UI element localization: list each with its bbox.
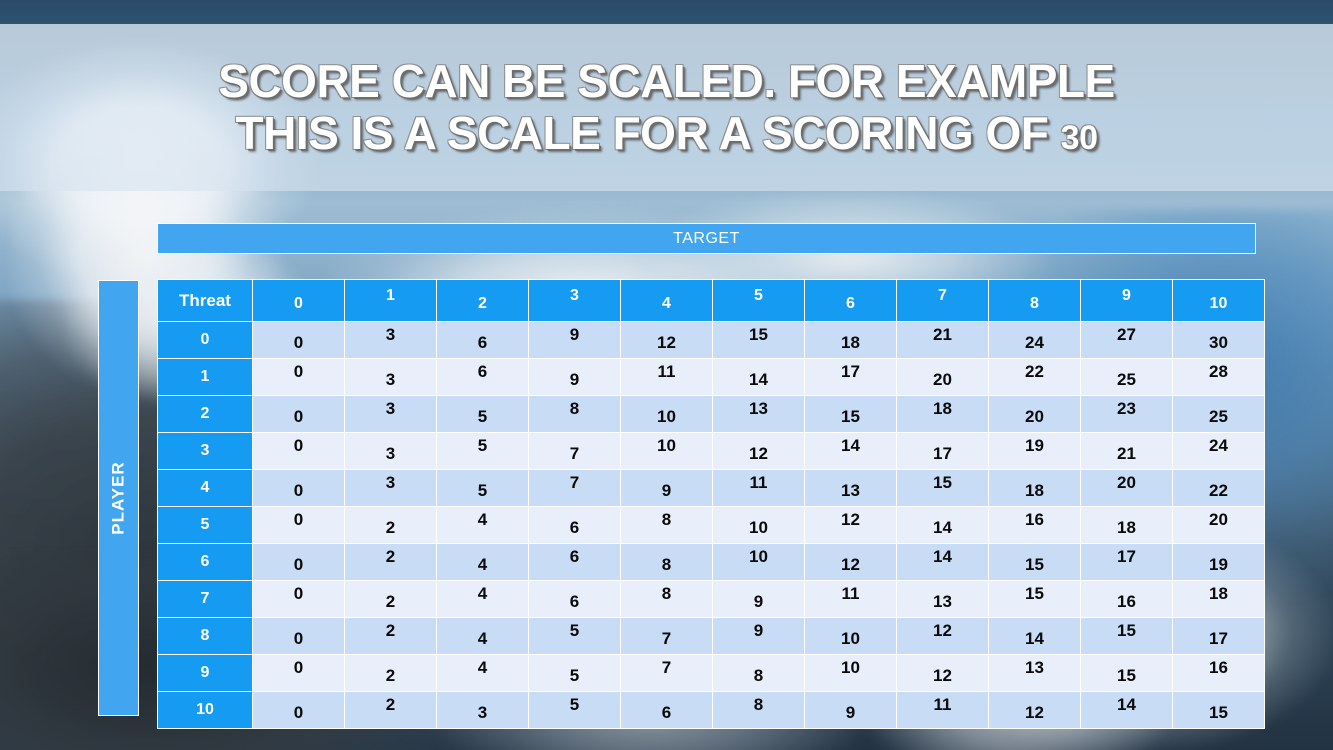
matrix-cell-value: 8 bbox=[662, 510, 671, 530]
matrix-cell: 13 bbox=[805, 470, 896, 506]
matrix-cell: 12 bbox=[897, 655, 988, 691]
matrix-cell-value: 6 bbox=[570, 518, 579, 538]
matrix-cell-value: 6 bbox=[570, 592, 579, 612]
matrix-cell: 2 bbox=[345, 581, 436, 617]
matrix-cell-value: 14 bbox=[933, 518, 952, 538]
matrix-row: 80245791012141517 bbox=[158, 618, 1264, 654]
matrix-cell: 4 bbox=[437, 544, 528, 580]
score-scale-matrix: Threat012345678910 003691215182124273010… bbox=[157, 279, 1265, 729]
matrix-cell: 4 bbox=[437, 581, 528, 617]
matrix-cell: 23 bbox=[1081, 396, 1172, 432]
matrix-cell-value: 4 bbox=[478, 510, 487, 530]
matrix-cell-value: 16 bbox=[1117, 592, 1136, 612]
matrix-cell-value: 3 bbox=[386, 473, 395, 493]
matrix-row: 70246891113151618 bbox=[158, 581, 1264, 617]
matrix-cell-value: 12 bbox=[841, 510, 860, 530]
matrix-cell-value: 10 bbox=[657, 436, 676, 456]
matrix-cell-value: 11 bbox=[934, 695, 952, 715]
matrix-cell: 8 bbox=[621, 507, 712, 543]
matrix-cell-value: 4 bbox=[478, 555, 487, 575]
matrix-cell: 25 bbox=[1081, 359, 1172, 395]
matrix-cell-value: 2 bbox=[386, 547, 395, 567]
matrix-cell: 12 bbox=[805, 544, 896, 580]
matrix-row: 0036912151821242730 bbox=[158, 322, 1264, 358]
matrix-cell-value: 15 bbox=[841, 407, 860, 427]
matrix-cell: 6 bbox=[529, 544, 620, 580]
matrix-cell-value: 7 bbox=[662, 658, 671, 678]
matrix-cell-value: 0 bbox=[294, 436, 303, 456]
matrix-cell-value: 8 bbox=[754, 666, 763, 686]
matrix-cell: 15 bbox=[805, 396, 896, 432]
matrix-cell-value: 15 bbox=[1117, 666, 1136, 686]
matrix-cell-value: 2 bbox=[386, 695, 395, 715]
matrix-corner-header: Threat bbox=[158, 280, 252, 321]
matrix-cell: 13 bbox=[713, 396, 804, 432]
matrix-cell-value: 10 bbox=[749, 518, 768, 538]
matrix-cell-value: 2 bbox=[386, 592, 395, 612]
matrix-row-header-6: 6 bbox=[158, 544, 252, 580]
matrix-cell-value: 17 bbox=[933, 444, 952, 464]
matrix-cell: 18 bbox=[1173, 581, 1264, 617]
matrix-cell: 17 bbox=[1173, 618, 1264, 654]
matrix-cell: 25 bbox=[1173, 396, 1264, 432]
matrix-cell: 5 bbox=[437, 470, 528, 506]
matrix-cell: 14 bbox=[989, 618, 1080, 654]
matrix-cell-value: 25 bbox=[1209, 407, 1228, 427]
matrix-cell: 15 bbox=[989, 544, 1080, 580]
matrix-cell-value: 18 bbox=[933, 399, 952, 419]
matrix-cell: 6 bbox=[437, 359, 528, 395]
matrix-cell: 3 bbox=[345, 396, 436, 432]
matrix-cell: 3 bbox=[345, 359, 436, 395]
matrix-cell-value: 0 bbox=[294, 510, 303, 530]
matrix-row: 403579111315182022 bbox=[158, 470, 1264, 506]
matrix-cell-value: 2 bbox=[386, 666, 395, 686]
matrix-cell-value: 19 bbox=[1209, 555, 1228, 575]
matrix-cell: 14 bbox=[713, 359, 804, 395]
matrix-cell: 4 bbox=[437, 507, 528, 543]
matrix-cell: 11 bbox=[713, 470, 804, 506]
matrix-cell-value: 3 bbox=[478, 703, 487, 723]
matrix-cell-value: 13 bbox=[933, 592, 952, 612]
matrix-cell-value: 10 bbox=[841, 658, 860, 678]
matrix-cell: 10 bbox=[805, 655, 896, 691]
matrix-cell-value: 15 bbox=[749, 325, 768, 345]
matrix-cell-value: 27 bbox=[1117, 325, 1136, 345]
matrix-cell-value: 14 bbox=[841, 436, 860, 456]
matrix-cell-value: 0 bbox=[294, 658, 303, 678]
matrix-cell: 3 bbox=[345, 433, 436, 469]
matrix-cell: 0 bbox=[253, 544, 344, 580]
matrix-cell-value: 12 bbox=[657, 333, 676, 353]
matrix-cell: 18 bbox=[897, 396, 988, 432]
matrix-column-header-0: 0 bbox=[253, 280, 344, 321]
matrix-column-header-5: 5 bbox=[713, 280, 804, 321]
matrix-cell: 2 bbox=[345, 692, 436, 728]
matrix-cell: 9 bbox=[805, 692, 896, 728]
matrix-cell: 18 bbox=[1081, 507, 1172, 543]
matrix-cell: 13 bbox=[897, 581, 988, 617]
matrix-cell-value: 21 bbox=[933, 325, 952, 345]
matrix-cell: 7 bbox=[529, 433, 620, 469]
matrix-cell-value: 7 bbox=[662, 629, 671, 649]
matrix-cell-value: 8 bbox=[662, 555, 671, 575]
matrix-cell: 6 bbox=[621, 692, 712, 728]
matrix-cell-value: 0 bbox=[294, 362, 303, 382]
matrix-cell-value: 0 bbox=[294, 333, 303, 353]
matrix-cell-value: 5 bbox=[570, 695, 579, 715]
matrix-cell: 3 bbox=[345, 322, 436, 358]
matrix-cell: 14 bbox=[897, 544, 988, 580]
matrix-cell-value: 11 bbox=[658, 362, 676, 382]
matrix-cell-value: 16 bbox=[1209, 658, 1228, 678]
matrix-column-header-6: 6 bbox=[805, 280, 896, 321]
title-line-2: THIS IS A SCALE FOR A SCORING OF bbox=[236, 107, 1061, 159]
matrix-cell: 0 bbox=[253, 322, 344, 358]
matrix-cell: 7 bbox=[529, 470, 620, 506]
top-border-strip bbox=[0, 0, 1333, 24]
matrix-cell: 15 bbox=[1173, 692, 1264, 728]
matrix-row: 2035810131518202325 bbox=[158, 396, 1264, 432]
matrix-cell: 12 bbox=[989, 692, 1080, 728]
matrix-cell: 16 bbox=[1173, 655, 1264, 691]
matrix-cell-value: 8 bbox=[754, 695, 763, 715]
matrix-cell-value: 14 bbox=[1117, 695, 1136, 715]
player-axis-label: PLAYER bbox=[109, 461, 129, 534]
matrix-cell: 0 bbox=[253, 470, 344, 506]
matrix-cell-value: 21 bbox=[1117, 444, 1136, 464]
matrix-column-header-2: 2 bbox=[437, 280, 528, 321]
matrix-cell: 24 bbox=[989, 322, 1080, 358]
matrix-cell-value: 7 bbox=[570, 444, 579, 464]
matrix-cell: 3 bbox=[437, 692, 528, 728]
matrix-cell: 0 bbox=[253, 396, 344, 432]
matrix-cell: 5 bbox=[437, 433, 528, 469]
matrix-row: 1036911141720222528 bbox=[158, 359, 1264, 395]
matrix-cell: 8 bbox=[713, 692, 804, 728]
matrix-cell: 5 bbox=[529, 618, 620, 654]
matrix-cell-value: 20 bbox=[1209, 510, 1228, 530]
matrix-cell: 9 bbox=[529, 322, 620, 358]
matrix-column-header-7: 7 bbox=[897, 280, 988, 321]
matrix-cell: 5 bbox=[529, 692, 620, 728]
matrix-cell: 16 bbox=[989, 507, 1080, 543]
matrix-cell-value: 5 bbox=[570, 621, 579, 641]
matrix-body: 0036912151821242730103691114172022252820… bbox=[158, 322, 1264, 728]
matrix-cell: 19 bbox=[989, 433, 1080, 469]
matrix-cell: 21 bbox=[1081, 433, 1172, 469]
matrix-column-header-1: 1 bbox=[345, 280, 436, 321]
matrix-cell: 10 bbox=[621, 396, 712, 432]
matrix-cell: 18 bbox=[989, 470, 1080, 506]
matrix-cell-value: 9 bbox=[754, 592, 763, 612]
matrix-cell: 4 bbox=[437, 655, 528, 691]
matrix-row-header-7: 7 bbox=[158, 581, 252, 617]
matrix-cell-value: 18 bbox=[1117, 518, 1136, 538]
matrix-cell: 4 bbox=[437, 618, 528, 654]
matrix-cell-value: 13 bbox=[841, 481, 860, 501]
matrix-cell-value: 20 bbox=[1117, 473, 1136, 493]
matrix-cell-value: 5 bbox=[478, 436, 487, 456]
matrix-cell-value: 18 bbox=[841, 333, 860, 353]
matrix-cell-value: 15 bbox=[933, 473, 952, 493]
matrix-cell-value: 6 bbox=[478, 333, 487, 353]
matrix-row-header-3: 3 bbox=[158, 433, 252, 469]
matrix-cell: 3 bbox=[345, 470, 436, 506]
matrix-cell-value: 14 bbox=[1025, 629, 1044, 649]
matrix-cell-value: 11 bbox=[842, 584, 860, 604]
matrix-column-header-8: 8 bbox=[989, 280, 1080, 321]
matrix-cell: 10 bbox=[713, 544, 804, 580]
matrix-cell-value: 3 bbox=[386, 370, 395, 390]
matrix-cell: 2 bbox=[345, 544, 436, 580]
matrix-cell-value: 9 bbox=[846, 703, 855, 723]
matrix-cell-value: 12 bbox=[841, 555, 860, 575]
matrix-cell-value: 6 bbox=[478, 362, 487, 382]
matrix-cell: 8 bbox=[621, 544, 712, 580]
matrix-row-header-8: 8 bbox=[158, 618, 252, 654]
matrix-cell-value: 4 bbox=[478, 658, 487, 678]
matrix-cell-value: 22 bbox=[1209, 481, 1228, 501]
matrix-cell: 5 bbox=[529, 655, 620, 691]
matrix-cell-value: 10 bbox=[841, 629, 860, 649]
title-scale-number: 30 bbox=[1061, 119, 1098, 157]
matrix-cell: 7 bbox=[621, 655, 712, 691]
title-band: SCORE CAN BE SCALED. FOR EXAMPLE THIS IS… bbox=[0, 24, 1333, 191]
matrix-cell: 0 bbox=[253, 433, 344, 469]
matrix-cell-value: 24 bbox=[1025, 333, 1044, 353]
matrix-cell-value: 30 bbox=[1209, 333, 1228, 353]
matrix-cell: 11 bbox=[897, 692, 988, 728]
matrix-cell: 7 bbox=[621, 618, 712, 654]
matrix-cell-value: 3 bbox=[386, 444, 395, 464]
matrix-row: 3035710121417192124 bbox=[158, 433, 1264, 469]
matrix-cell: 9 bbox=[621, 470, 712, 506]
matrix-cell-value: 28 bbox=[1209, 362, 1228, 382]
matrix-cell-value: 3 bbox=[386, 399, 395, 419]
matrix-cell-value: 24 bbox=[1209, 436, 1228, 456]
matrix-cell-value: 6 bbox=[662, 703, 671, 723]
matrix-row: 90245781012131516 bbox=[158, 655, 1264, 691]
matrix-cell: 8 bbox=[621, 581, 712, 617]
matrix-cell-value: 0 bbox=[294, 703, 303, 723]
matrix-cell: 15 bbox=[1081, 618, 1172, 654]
matrix-cell-value: 5 bbox=[478, 407, 487, 427]
matrix-cell: 20 bbox=[1081, 470, 1172, 506]
matrix-cell-value: 20 bbox=[1025, 407, 1044, 427]
matrix-cell: 13 bbox=[989, 655, 1080, 691]
matrix-cell: 5 bbox=[437, 396, 528, 432]
matrix-column-header-9: 9 bbox=[1081, 280, 1172, 321]
matrix-cell: 30 bbox=[1173, 322, 1264, 358]
matrix-cell: 12 bbox=[897, 618, 988, 654]
matrix-cell: 20 bbox=[989, 396, 1080, 432]
matrix-row: 502468101214161820 bbox=[158, 507, 1264, 543]
matrix-cell-value: 18 bbox=[1025, 481, 1044, 501]
matrix-row-header-0: 0 bbox=[158, 322, 252, 358]
matrix-cell-value: 14 bbox=[933, 547, 952, 567]
matrix-cell: 10 bbox=[621, 433, 712, 469]
matrix-cell-value: 15 bbox=[1025, 584, 1044, 604]
matrix-cell-value: 9 bbox=[570, 370, 579, 390]
matrix-cell: 2 bbox=[345, 655, 436, 691]
matrix-row-header-4: 4 bbox=[158, 470, 252, 506]
matrix-cell: 6 bbox=[437, 322, 528, 358]
matrix-cell-value: 10 bbox=[657, 407, 676, 427]
matrix-cell: 19 bbox=[1173, 544, 1264, 580]
matrix-cell-value: 17 bbox=[1117, 547, 1136, 567]
matrix-cell: 14 bbox=[897, 507, 988, 543]
matrix-column-header-3: 3 bbox=[529, 280, 620, 321]
matrix-cell-value: 22 bbox=[1025, 362, 1044, 382]
matrix-cell: 9 bbox=[529, 359, 620, 395]
matrix-cell-value: 15 bbox=[1025, 555, 1044, 575]
matrix-header-row: Threat012345678910 bbox=[158, 280, 1264, 321]
matrix-row: 10023568911121415 bbox=[158, 692, 1264, 728]
matrix-cell: 0 bbox=[253, 655, 344, 691]
matrix-cell-value: 11 bbox=[750, 473, 768, 493]
matrix-cell-value: 5 bbox=[478, 481, 487, 501]
matrix-cell-value: 19 bbox=[1025, 436, 1044, 456]
matrix-cell-value: 12 bbox=[749, 444, 768, 464]
slide-canvas: SCORE CAN BE SCALED. FOR EXAMPLE THIS IS… bbox=[0, 0, 1333, 750]
matrix-cell: 20 bbox=[1173, 507, 1264, 543]
matrix-cell: 22 bbox=[1173, 470, 1264, 506]
matrix-cell: 17 bbox=[897, 433, 988, 469]
matrix-cell: 0 bbox=[253, 359, 344, 395]
matrix-cell: 15 bbox=[989, 581, 1080, 617]
matrix-cell-value: 17 bbox=[1209, 629, 1228, 649]
matrix-cell-value: 4 bbox=[478, 584, 487, 604]
matrix-cell-value: 5 bbox=[570, 666, 579, 686]
matrix-cell: 16 bbox=[1081, 581, 1172, 617]
matrix-cell-value: 12 bbox=[1025, 703, 1044, 723]
matrix-cell: 12 bbox=[805, 507, 896, 543]
matrix-cell: 14 bbox=[805, 433, 896, 469]
matrix-cell-value: 9 bbox=[662, 481, 671, 501]
matrix-cell-value: 7 bbox=[570, 473, 579, 493]
matrix-cell: 18 bbox=[805, 322, 896, 358]
matrix-cell: 15 bbox=[713, 322, 804, 358]
matrix-cell: 8 bbox=[529, 396, 620, 432]
matrix-cell-value: 17 bbox=[841, 362, 860, 382]
matrix-row-header-5: 5 bbox=[158, 507, 252, 543]
matrix-cell: 9 bbox=[713, 618, 804, 654]
matrix-cell: 22 bbox=[989, 359, 1080, 395]
matrix-cell-value: 12 bbox=[933, 621, 952, 641]
matrix-cell: 12 bbox=[621, 322, 712, 358]
matrix-cell-value: 18 bbox=[1209, 584, 1228, 604]
matrix-cell-value: 8 bbox=[662, 584, 671, 604]
matrix-cell-value: 2 bbox=[386, 518, 395, 538]
matrix-cell: 15 bbox=[897, 470, 988, 506]
matrix-cell: 9 bbox=[713, 581, 804, 617]
matrix-cell-value: 0 bbox=[294, 407, 303, 427]
matrix-cell-value: 6 bbox=[570, 547, 579, 567]
matrix-cell-value: 2 bbox=[386, 621, 395, 641]
matrix-cell-value: 3 bbox=[386, 325, 395, 345]
matrix-cell-value: 0 bbox=[294, 629, 303, 649]
matrix-cell-value: 15 bbox=[1117, 621, 1136, 641]
matrix-column-header-10: 10 bbox=[1173, 280, 1264, 321]
matrix-column-header-4: 4 bbox=[621, 280, 712, 321]
matrix-cell-value: 0 bbox=[294, 584, 303, 604]
matrix-cell-value: 13 bbox=[749, 399, 768, 419]
matrix-cell-value: 14 bbox=[749, 370, 768, 390]
matrix-cell: 0 bbox=[253, 618, 344, 654]
matrix-row-header-1: 1 bbox=[158, 359, 252, 395]
target-axis-banner: TARGET bbox=[157, 223, 1256, 254]
matrix-cell-value: 8 bbox=[570, 399, 579, 419]
matrix-cell: 6 bbox=[529, 507, 620, 543]
matrix-row-header-9: 9 bbox=[158, 655, 252, 691]
matrix-cell: 6 bbox=[529, 581, 620, 617]
matrix-cell-value: 9 bbox=[570, 325, 579, 345]
matrix-cell-value: 20 bbox=[933, 370, 952, 390]
matrix-cell: 17 bbox=[1081, 544, 1172, 580]
matrix-cell: 17 bbox=[805, 359, 896, 395]
matrix-cell: 0 bbox=[253, 507, 344, 543]
matrix-cell-value: 15 bbox=[1209, 703, 1228, 723]
matrix-row: 602468101214151719 bbox=[158, 544, 1264, 580]
matrix-cell: 27 bbox=[1081, 322, 1172, 358]
matrix-cell-value: 4 bbox=[478, 629, 487, 649]
matrix-cell: 8 bbox=[713, 655, 804, 691]
matrix-cell: 2 bbox=[345, 618, 436, 654]
matrix-cell-value: 16 bbox=[1025, 510, 1044, 530]
matrix-cell: 10 bbox=[805, 618, 896, 654]
matrix-cell-value: 9 bbox=[754, 621, 763, 641]
matrix-cell: 20 bbox=[897, 359, 988, 395]
matrix-cell: 12 bbox=[713, 433, 804, 469]
matrix-cell-value: 23 bbox=[1117, 399, 1136, 419]
matrix-cell-value: 12 bbox=[933, 666, 952, 686]
matrix-cell: 28 bbox=[1173, 359, 1264, 395]
matrix-cell: 10 bbox=[713, 507, 804, 543]
matrix-cell-value: 25 bbox=[1117, 370, 1136, 390]
player-axis-banner: PLAYER bbox=[98, 280, 139, 716]
matrix-cell: 0 bbox=[253, 692, 344, 728]
matrix-cell: 0 bbox=[253, 581, 344, 617]
matrix-cell-value: 13 bbox=[1025, 658, 1044, 678]
matrix-cell: 21 bbox=[897, 322, 988, 358]
matrix-cell: 2 bbox=[345, 507, 436, 543]
matrix-cell-value: 0 bbox=[294, 555, 303, 575]
matrix-cell: 11 bbox=[621, 359, 712, 395]
matrix-cell: 14 bbox=[1081, 692, 1172, 728]
matrix-cell-value: 10 bbox=[749, 547, 768, 567]
matrix-cell-value: 0 bbox=[294, 481, 303, 501]
matrix-cell: 15 bbox=[1081, 655, 1172, 691]
matrix-row-header-2: 2 bbox=[158, 396, 252, 432]
slide-title: SCORE CAN BE SCALED. FOR EXAMPLE THIS IS… bbox=[158, 56, 1174, 159]
matrix-cell: 24 bbox=[1173, 433, 1264, 469]
matrix-cell: 11 bbox=[805, 581, 896, 617]
matrix-row-header-10: 10 bbox=[158, 692, 252, 728]
target-axis-label: TARGET bbox=[673, 230, 740, 248]
title-line-1: SCORE CAN BE SCALED. FOR EXAMPLE bbox=[218, 55, 1114, 107]
